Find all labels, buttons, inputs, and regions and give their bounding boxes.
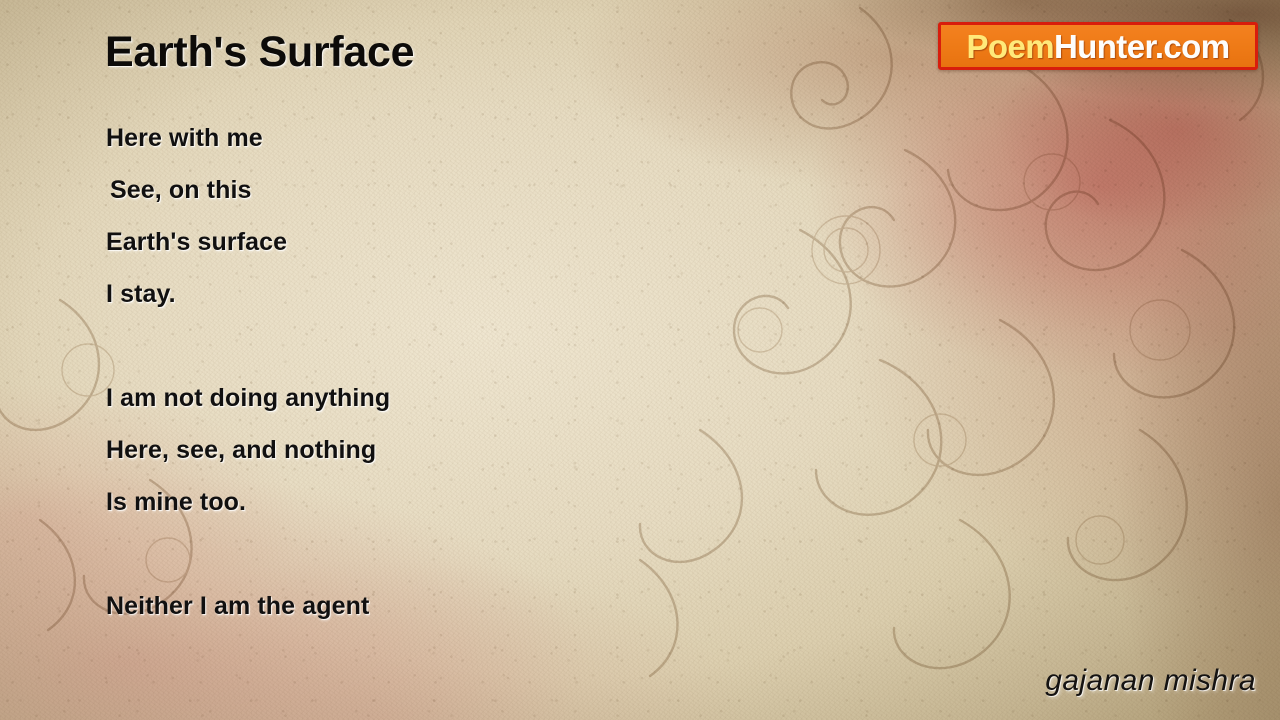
poem-line: Is mine too. [106,476,746,528]
logo-word-hunter: Hunter.com [1054,28,1230,65]
poem-line-blank [106,528,746,580]
poem-title: Earth's Surface [105,28,414,77]
poem-author: gajanan mishra [1045,664,1256,698]
poem-image-canvas: Earth's Surface Here with me See, on thi… [0,0,1280,720]
poem-line: Neither I am the agent [106,580,746,632]
poem-line: Earth's surface [106,216,746,268]
poem-line: See, on this [106,164,746,216]
logo-word-poem: Poem [966,28,1053,65]
poemhunter-logo-text: PoemHunter.com [966,30,1229,63]
poem-line: Here, see, and nothing [106,424,746,476]
poem-line: I am not doing anything [106,372,746,424]
poem-body: Here with me See, on this Earth's surfac… [106,112,746,632]
poem-line: Here with me [106,112,746,164]
poemhunter-logo-badge[interactable]: PoemHunter.com [938,22,1258,70]
poem-line: I stay. [106,268,746,320]
poem-line-blank [106,320,746,372]
